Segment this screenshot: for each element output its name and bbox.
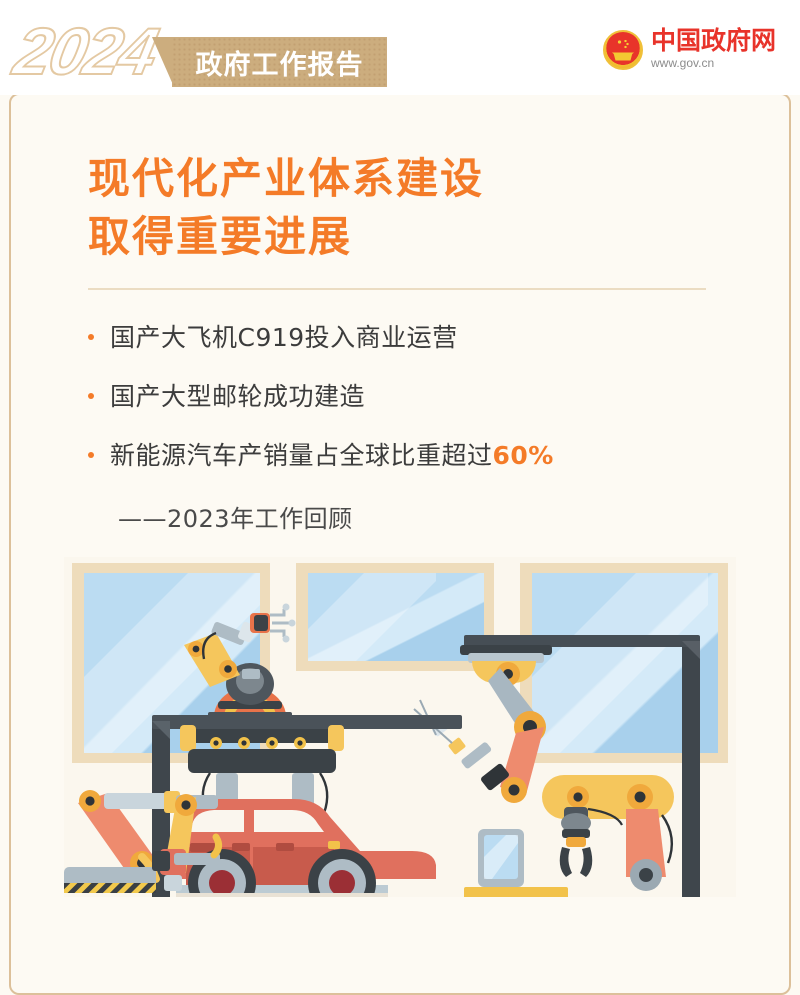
joint-lower bbox=[501, 777, 527, 803]
achievement-list: 国产大飞机C919投入商业运营 国产大型邮轮成功建造 新能源汽车产销量占全球比重… bbox=[88, 322, 800, 472]
title-divider bbox=[88, 288, 706, 290]
page-header: 2024 政府工作报告 中国政府网 www.gov.cn bbox=[0, 0, 800, 95]
site-logo[interactable]: 中国政府网 www.gov.cn bbox=[603, 28, 776, 71]
list-item-text: 国产大型邮轮成功建造 bbox=[110, 381, 365, 413]
bullet-dot-icon bbox=[88, 334, 94, 340]
site-url: www.gov.cn bbox=[651, 56, 776, 71]
report-banner-label: 政府工作报告 bbox=[196, 43, 364, 82]
smart-factory-illustration bbox=[64, 557, 736, 897]
bullet-dot-icon bbox=[88, 452, 94, 458]
source-attribution: ——2023年工作回顾 bbox=[118, 499, 800, 534]
year-label: 2024 bbox=[9, 18, 162, 84]
page-title: 现代化产业体系建设 取得重要进展 bbox=[0, 95, 800, 266]
page-title-line-2: 取得重要进展 bbox=[88, 208, 800, 266]
page-title-line-1: 现代化产业体系建设 bbox=[88, 150, 800, 208]
floor-shadow bbox=[176, 893, 388, 897]
list-item-text: 新能源汽车产销量占全球比重超过60% bbox=[110, 440, 554, 472]
banner-notch-shape bbox=[152, 37, 174, 87]
national-emblem-icon bbox=[603, 30, 643, 70]
list-item: 新能源汽车产销量占全球比重超过60% bbox=[88, 440, 800, 472]
gantry-carriage bbox=[180, 725, 344, 773]
report-banner: 政府工作报告 bbox=[172, 37, 387, 87]
bullet-dot-icon bbox=[88, 393, 94, 399]
list-item: 国产大飞机C919投入商业运营 bbox=[88, 322, 800, 354]
site-name: 中国政府网 bbox=[651, 28, 776, 54]
list-item-text: 国产大飞机C919投入商业运营 bbox=[110, 322, 458, 354]
illustration-container bbox=[0, 557, 800, 897]
site-logo-text: 中国政府网 www.gov.cn bbox=[651, 28, 776, 71]
list-item: 国产大型邮轮成功建造 bbox=[88, 381, 800, 413]
main-content: 现代化产业体系建设 取得重要进展 国产大飞机C919投入商业运营 国产大型邮轮成… bbox=[0, 95, 800, 897]
